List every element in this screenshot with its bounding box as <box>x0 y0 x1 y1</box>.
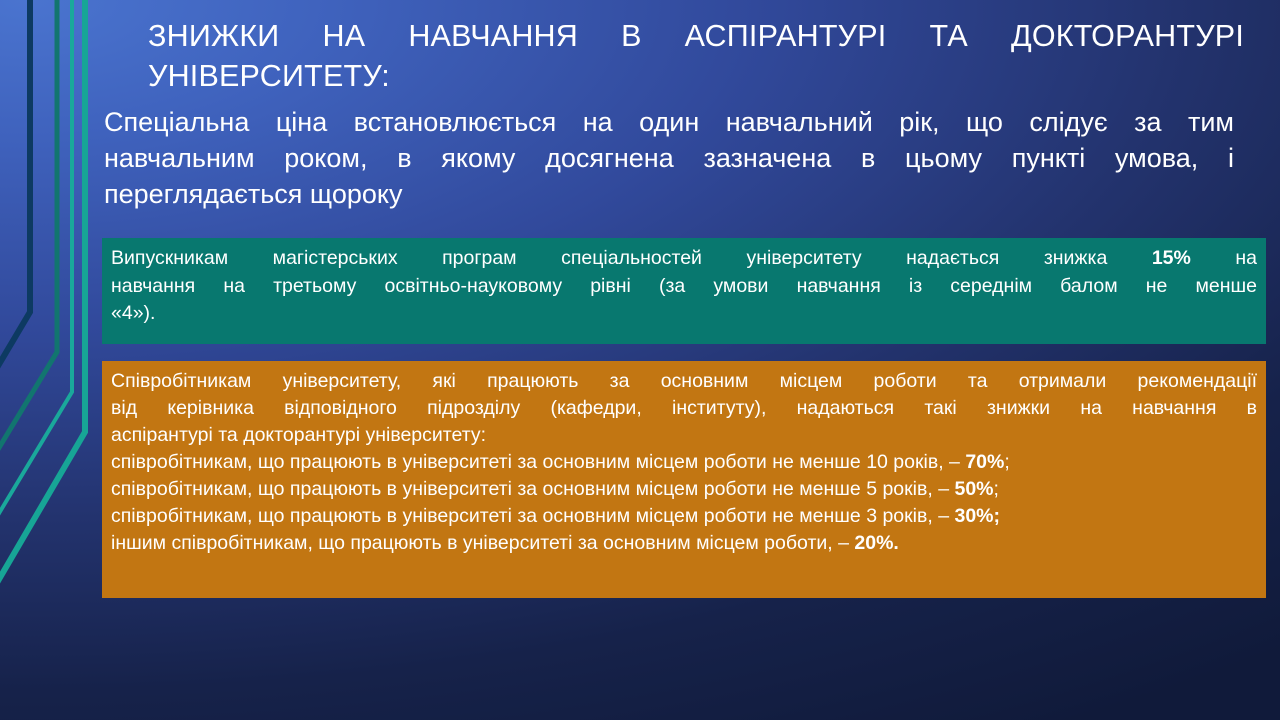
intro-line-3: переглядається щороку <box>104 177 1234 213</box>
page-title-line-2: УНІВЕРСИТЕТУ: <box>148 56 1244 96</box>
deco-line-3 <box>0 0 72 578</box>
text-line: співробітникам, що працюють в університе… <box>111 503 1257 530</box>
text-run: ; <box>994 478 999 500</box>
emphasis-value: 70% <box>965 451 1004 473</box>
text-line: «4»). <box>111 300 1257 328</box>
callout-box-masters-discount: Випускникам магістерських програм спеціа… <box>102 238 1266 344</box>
emphasis-value: 50% <box>954 478 993 500</box>
text-line: Співробітникам університету, які працюют… <box>111 368 1257 395</box>
callout-box-staff-discounts: Співробітникам університету, які працюют… <box>102 361 1266 598</box>
text-line: іншим співробітникам, що працюють в унів… <box>111 530 1257 557</box>
emphasis-value: 30%; <box>954 505 1000 527</box>
text-line: Випускникам магістерських програм спеціа… <box>111 245 1257 273</box>
text-run: на <box>1191 247 1257 269</box>
text-line: навчання на третьому освітньо-науковому … <box>111 273 1257 301</box>
text-run: навчання на третьому освітньо-науковому … <box>111 275 1257 297</box>
slide-canvas: ЗНИЖКИ НА НАВЧАННЯ В АСПІРАНТУРІ ТА ДОКТ… <box>0 0 1280 720</box>
orange-box-content: Співробітникам університету, які працюют… <box>111 368 1257 557</box>
text-run: іншим співробітникам, що працюють в унів… <box>111 532 854 554</box>
text-run: від керівника відповідного підрозділу (к… <box>111 397 1257 419</box>
deco-line-4 <box>0 0 85 646</box>
teal-box-content: Випускникам магістерських програм спеціа… <box>111 245 1257 328</box>
text-run: співробітникам, що працюють в університе… <box>111 505 954 527</box>
text-run: «4»). <box>111 302 155 324</box>
page-title-line-1: ЗНИЖКИ НА НАВЧАННЯ В АСПІРАНТУРІ ТА ДОКТ… <box>148 16 1244 56</box>
page-title: ЗНИЖКИ НА НАВЧАННЯ В АСПІРАНТУРІ ТА ДОКТ… <box>148 16 1244 97</box>
text-run: Випускникам магістерських програм спеціа… <box>111 247 1152 269</box>
intro-paragraph: Спеціальна ціна встановлюється на один н… <box>104 105 1234 213</box>
deco-line-2 <box>0 0 57 512</box>
text-line: співробітникам, що працюють в університе… <box>111 476 1257 503</box>
emphasis-value: 20%. <box>854 532 898 554</box>
intro-line-1: Спеціальна ціна встановлюється на один н… <box>104 105 1234 141</box>
text-run: Співробітникам університету, які працюют… <box>111 370 1257 392</box>
intro-line-2: навчальним роком, в якому досягнена зазн… <box>104 141 1234 177</box>
text-line: співробітникам, що працюють в університе… <box>111 449 1257 476</box>
text-line: аспірантурі та докторантурі університету… <box>111 422 1257 449</box>
text-run: ; <box>1004 451 1009 473</box>
emphasis-value: 15% <box>1152 247 1191 269</box>
text-line: від керівника відповідного підрозділу (к… <box>111 395 1257 422</box>
deco-line-1 <box>0 0 30 430</box>
text-run: аспірантурі та докторантурі університету… <box>111 424 486 446</box>
text-run: співробітникам, що працюють в університе… <box>111 451 965 473</box>
text-run: співробітникам, що працюють в університе… <box>111 478 954 500</box>
